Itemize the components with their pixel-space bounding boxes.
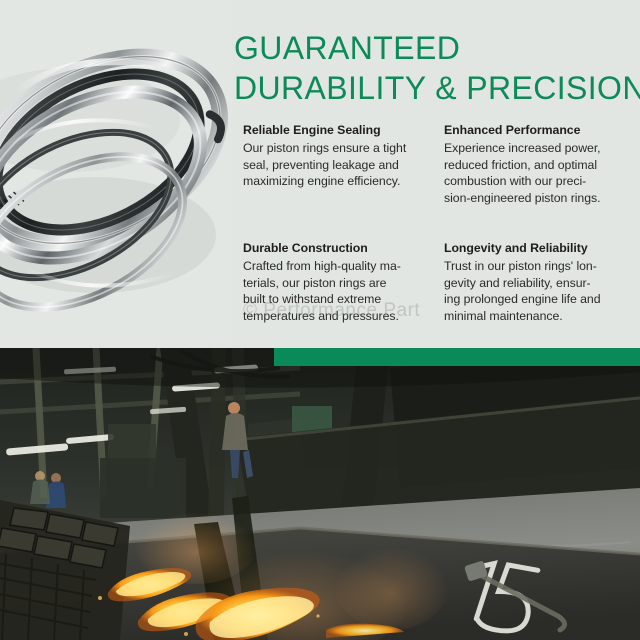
feature-title: Reliable Engine Sealing [243,122,438,139]
feature-title: Longevity and Reliability [444,240,629,257]
headline-line-2: DURABILITY & PRECISION [234,68,634,108]
page-title: GUARANTEED DURABILITY & PRECISION [234,28,634,108]
feature-grid: Reliable Engine Sealing Our piston rings… [243,122,635,324]
foundry-photo [0,348,640,640]
feature-enhanced-performance: Enhanced Performance Experience increase… [444,122,635,240]
top-section: ▮▮▮▮ ▮▮▮▮▮▮▮ ▪▪▪ GUARANTEED DURABILITY &… [0,0,640,348]
feature-body: Trust in our piston rings' lon- gevity a… [444,258,629,324]
feature-body: Our piston rings ensure a tight seal, pr… [243,140,438,190]
feature-longevity-and-reliability: Longevity and Reliability Trust in our p… [444,240,635,324]
feature-body: Crafted from high-quality ma- terials, o… [243,258,438,324]
piston-rings-photo: ▮▮▮▮ ▮▮▮▮▮▮▮ ▪▪▪ [0,0,232,348]
feature-title: Enhanced Performance [444,122,629,139]
feature-title: Durable Construction [243,240,438,257]
accent-bar [274,348,640,366]
feature-durable-construction: Durable Construction Crafted from high-q… [243,240,444,324]
feature-body: Experience increased power, reduced fric… [444,140,629,206]
feature-reliable-engine-sealing: Reliable Engine Sealing Our piston rings… [243,122,444,240]
promo-banner: ▮▮▮▮ ▮▮▮▮▮▮▮ ▪▪▪ GUARANTEED DURABILITY &… [0,0,640,640]
headline-line-1: GUARANTEED [234,28,634,68]
